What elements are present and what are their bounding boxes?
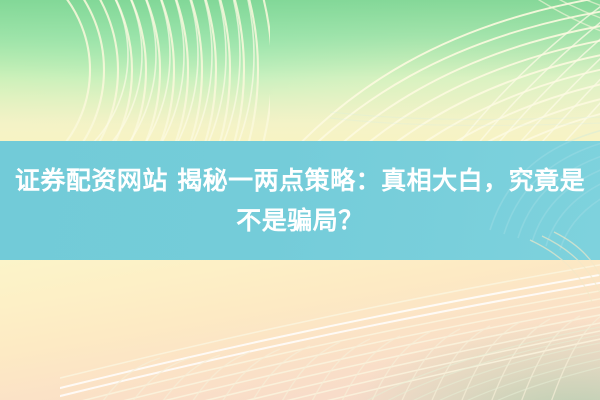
headline-line-2: 不是骗局？ [236,202,364,240]
background-top-shade [0,0,600,141]
promo-banner: 证券配资网站 揭秘一两点策略：真相大白，究竟是 不是骗局？ [0,0,600,400]
headline-line-1: 证券配资网站 揭秘一两点策略：真相大白，究竟是 [15,162,585,200]
background-bottom-green-tint [0,260,600,400]
headline-block: 证券配资网站 揭秘一两点策略：真相大白，究竟是 不是骗局？ [0,141,600,260]
